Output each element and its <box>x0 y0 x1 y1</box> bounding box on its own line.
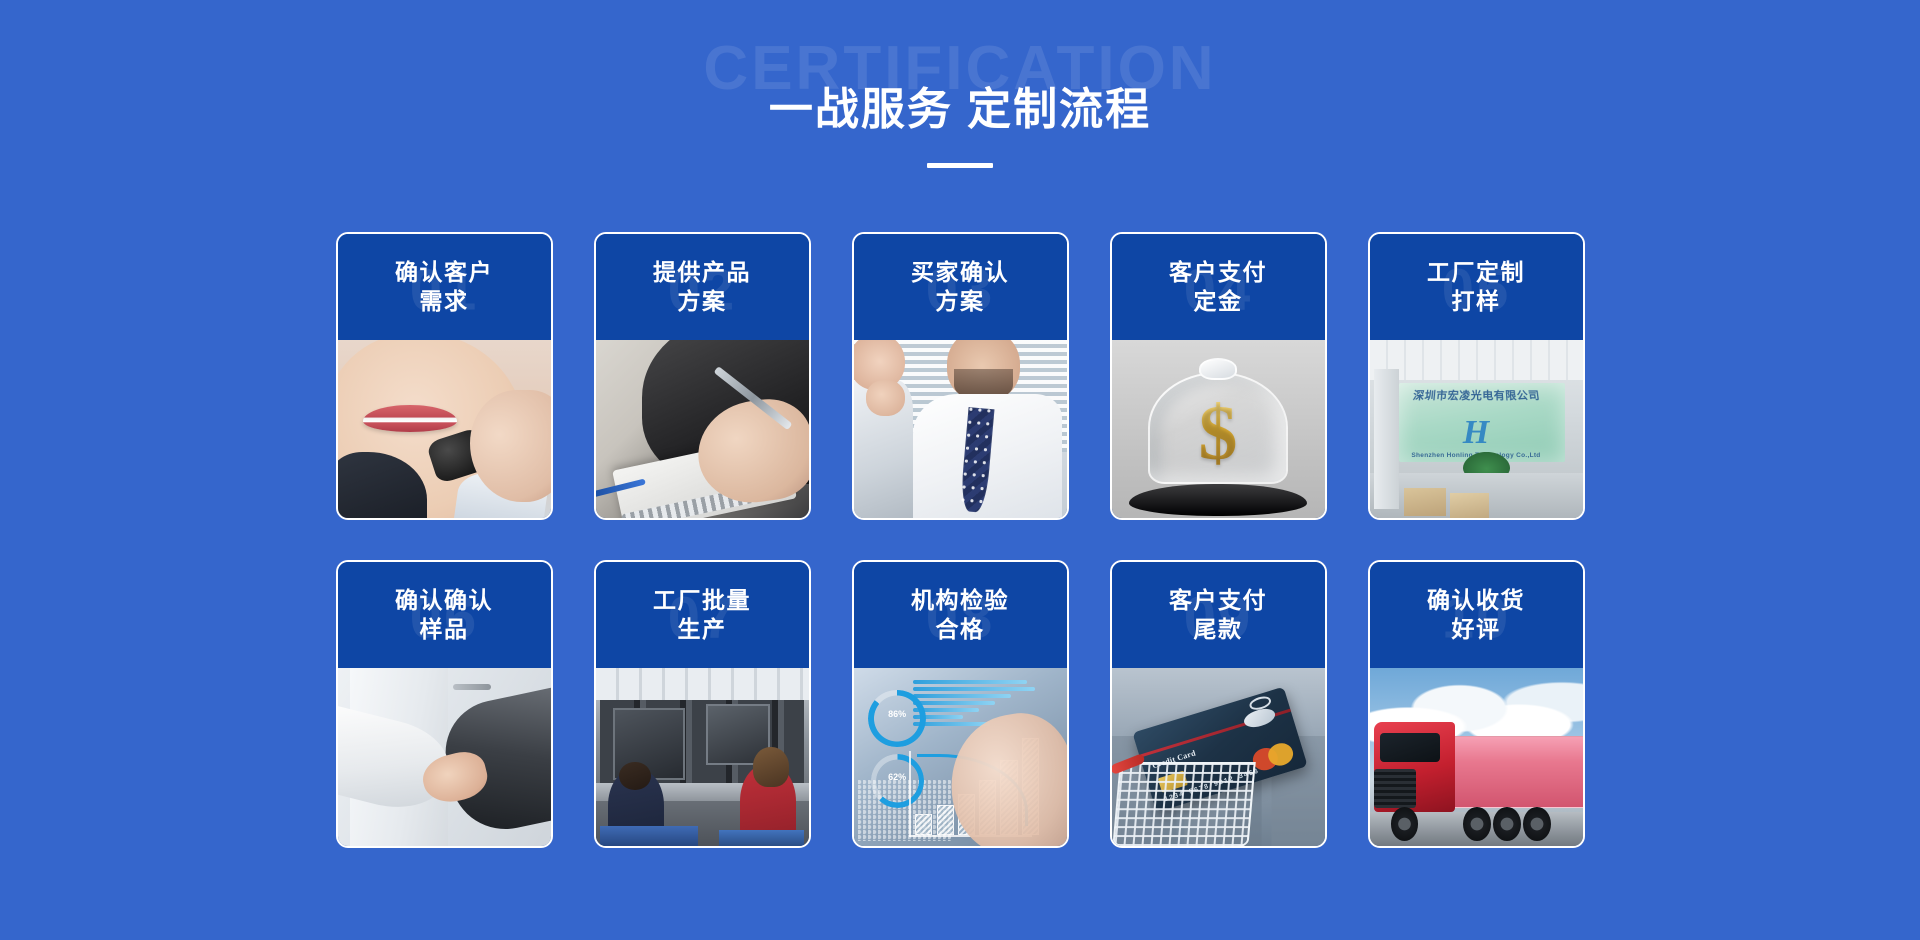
factory-office-lobby-photo: 深圳市宏凌光电有限公司 H Shenzhen Honling Technolog… <box>1370 340 1583 520</box>
card-header-01: 01 确认客户 需求 <box>338 234 551 340</box>
card-header-09: 09 客户支付 尾款 <box>1112 562 1325 668</box>
card-photo-05: 深圳市宏凌光电有限公司 H Shenzhen Honling Technolog… <box>1370 340 1583 520</box>
card-label-06: 确认确认 样品 <box>389 586 499 645</box>
dollar-sign-icon: $ <box>1112 394 1325 472</box>
card-label-10: 确认收货 好评 <box>1421 586 1531 645</box>
card-label-03: 买家确认 方案 <box>905 258 1015 317</box>
data-analytics-photo: 86% 62% <box>854 668 1067 848</box>
process-card-04[interactable]: 04 客户支付 定金 $ <box>1110 232 1327 520</box>
page-header: CERTIFICATION 一战服务 定制流程 <box>0 0 1920 205</box>
process-card-05[interactable]: 05 工厂定制 打样 深圳市宏凌光电有限公司 H Shenzhen Honlin… <box>1368 232 1585 520</box>
card-label-01: 确认客户 需求 <box>389 258 499 317</box>
handshake-photo <box>338 668 551 848</box>
process-card-01[interactable]: 01 确认客户 需求 <box>336 232 553 520</box>
card-label-07: 工厂批量 生产 <box>647 586 757 645</box>
card-photo-03 <box>854 340 1067 520</box>
card-header-02: 02 提供产品 方案 <box>596 234 809 340</box>
card-photo-06 <box>338 668 551 848</box>
process-card-09[interactable]: 09 客户支付 尾款 Credit Card 1234 5678 9012 34… <box>1110 560 1327 848</box>
process-steps-grid: 01 确认客户 需求 02 提供产品 方案 <box>335 232 1585 848</box>
credit-card-cart-photo: Credit Card 1234 5678 9012 3456 <box>1112 668 1325 848</box>
title-divider <box>927 163 993 168</box>
delivery-truck-photo <box>1370 668 1583 848</box>
gauge-value-low: 62% <box>871 772 924 782</box>
process-card-07[interactable]: 07 工厂批量 生产 <box>594 560 811 848</box>
card-header-04: 04 客户支付 定金 <box>1112 234 1325 340</box>
card-photo-07 <box>596 668 809 848</box>
card-photo-02 <box>596 340 809 520</box>
gauge-value-high: 86% <box>868 709 926 719</box>
shopping-cart-graphic <box>1112 762 1256 848</box>
card-header-06: 06 确认确认 样品 <box>338 562 551 668</box>
process-card-03[interactable]: 03 买家确认 方案 <box>852 232 1069 520</box>
process-card-10[interactable]: 10 确认收货 好评 <box>1368 560 1585 848</box>
card-photo-09: Credit Card 1234 5678 9012 3456 <box>1112 668 1325 848</box>
card-header-07: 07 工厂批量 生产 <box>596 562 809 668</box>
hands-writing-notepad-photo <box>596 340 809 520</box>
promo-page: CERTIFICATION 一战服务 定制流程 01 确认客户 需求 02 提供… <box>0 0 1920 940</box>
card-photo-01 <box>338 340 551 520</box>
card-header-10: 10 确认收货 好评 <box>1370 562 1583 668</box>
call-center-agent-photo <box>338 340 551 520</box>
card-label-08: 机构检验 合格 <box>905 586 1015 645</box>
glass-dome-dollar-photo: $ <box>1112 340 1325 520</box>
page-title: 一战服务 定制流程 <box>0 86 1920 134</box>
card-photo-08: 86% 62% <box>854 668 1067 848</box>
business-meeting-photo <box>854 340 1067 520</box>
company-logo-mark: H <box>1370 416 1583 450</box>
card-label-02: 提供产品 方案 <box>647 258 757 317</box>
card-header-03: 03 买家确认 方案 <box>854 234 1067 340</box>
process-card-02[interactable]: 02 提供产品 方案 <box>594 232 811 520</box>
process-card-08[interactable]: 08 机构检验 合格 86% <box>852 560 1069 848</box>
card-label-09: 客户支付 尾款 <box>1163 586 1273 645</box>
card-header-08: 08 机构检验 合格 <box>854 562 1067 668</box>
card-label-04: 客户支付 定金 <box>1163 258 1273 317</box>
card-photo-04: $ <box>1112 340 1325 520</box>
factory-assembly-line-photo <box>596 668 809 848</box>
office-sign-chinese-text: 深圳市宏凌光电有限公司 <box>1370 387 1583 403</box>
card-photo-10 <box>1370 668 1583 848</box>
process-card-06[interactable]: 06 确认确认 样品 <box>336 560 553 848</box>
card-header-05: 05 工厂定制 打样 <box>1370 234 1583 340</box>
card-label-05: 工厂定制 打样 <box>1421 258 1531 317</box>
